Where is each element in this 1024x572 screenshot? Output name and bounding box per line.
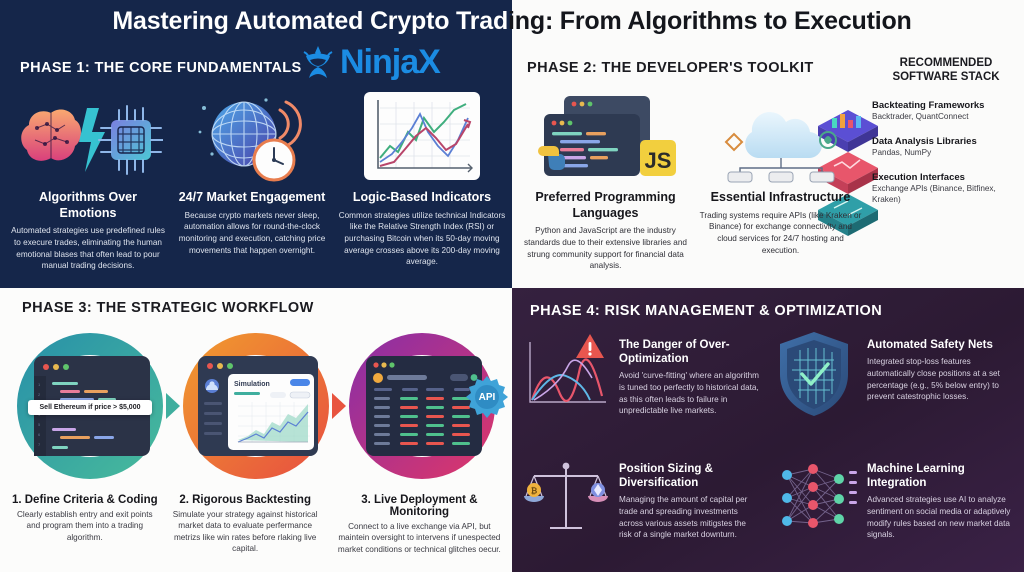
step-title: 2. Rigorous Backtesting: [169, 494, 322, 506]
risk-item-position-sizing: ₿ Position Sizing & Diversification Mana…: [520, 452, 760, 544]
card-body: Automated strategies use predefined rule…: [10, 225, 166, 272]
risk-item-machine-learning: Machine Learning Integration Advanced st…: [768, 452, 1016, 544]
card-market-engagement: 24/7 Market Engagement Because crypto ma…: [172, 88, 332, 272]
step-body: Connect to a live exchange via API, but …: [332, 521, 507, 555]
line-chart-icon: [338, 88, 506, 184]
risk-body: Managing the amount of capital per trade…: [619, 494, 760, 541]
stack-item-title: Data Analysis Libraries: [872, 136, 1022, 147]
balance-scale-icon: ₿: [520, 452, 612, 544]
card-title: 24/7 Market Engagement: [178, 190, 326, 206]
step-body: Simulate your strategy against historica…: [169, 509, 322, 555]
brain-chip-icon: [10, 88, 166, 184]
card-body: Trading systems require APIs (like Krake…: [699, 210, 862, 257]
simulation-label: Simulation: [234, 381, 270, 388]
risk-body: Avoid 'curve-fitting' where an algorithm…: [619, 370, 760, 417]
stack-item-title: Backteating Frameworks: [872, 100, 1022, 111]
card-title: Algorithms Over Emotions: [10, 190, 166, 221]
infographic-root: PHASE 1: THE CORE FUNDAMENTALS: [0, 0, 1024, 572]
flow-arrow-2-icon: [332, 393, 346, 419]
code-windows-icon: JS: [524, 88, 687, 184]
workflow-steps: 1. Define Criteria & Coding Clearly esta…: [6, 494, 512, 555]
workflow-diagram: 123 456 7: [14, 330, 506, 482]
card-body: Common strategies utilize technical Indi…: [338, 210, 506, 268]
workflow-step: 2. Rigorous Backtesting Simulate your st…: [164, 494, 327, 555]
stack-item-tools: Exchange APIs (Binance, Bitfinex, Kraken…: [872, 184, 1022, 205]
stack-item: Backteating Frameworks Backtrader, Quant…: [872, 100, 1022, 123]
stack-item-tools: Backtrader, QuantConnect: [872, 112, 1022, 123]
svg-text:₿: ₿: [531, 487, 538, 496]
risk-item-safety-nets: Automated Safety Nets Integrated stop-lo…: [768, 328, 1016, 446]
card-logic-indicators: Logic-Based Indicators Common strategies…: [332, 88, 512, 272]
ninjax-logo: NinjaX: [300, 44, 440, 80]
workflow-stage-backtesting: Simulation: [180, 330, 332, 482]
api-badge-label: API: [479, 392, 496, 403]
step-title: 3. Live Deployment & Monitoring: [332, 494, 507, 518]
risk-title: Machine Learning Integration: [867, 462, 1016, 490]
phase-2-panel: PHASE 2: THE DEVELOPER'S TOOLKIT RECOMME…: [512, 0, 1024, 288]
risk-body: Integrated stop-loss features automatica…: [867, 356, 1016, 403]
card-programming-languages: JS Preferred Programming Languages Pytho…: [518, 88, 693, 272]
stack-item-title: Execution Interfaces: [872, 172, 1022, 183]
card-algorithms-over-emotions: Algorithms Over Emotions Automated strat…: [4, 88, 172, 272]
phase-1-heading: PHASE 1: THE CORE FUNDAMENTALS: [20, 60, 302, 76]
software-stack-heading: RECOMMENDED SOFTWARE STACK: [872, 56, 1020, 85]
step-title: 1. Define Criteria & Coding: [11, 494, 159, 506]
code-tooltip: Sell Ethereum if price > $5,000: [28, 400, 152, 415]
card-title: Preferred Programming Languages: [524, 190, 687, 221]
globe-clock-icon: [178, 88, 326, 184]
phase-2-heading: PHASE 2: THE DEVELOPER'S TOOLKIT: [527, 60, 814, 76]
workflow-stage-coding: 123 456 7: [14, 330, 166, 482]
card-body: Because crypto markets never sleep, auto…: [178, 210, 326, 257]
workflow-stage-deployment: API: [346, 330, 498, 482]
flow-arrow-1-icon: [166, 393, 180, 419]
stack-item-tools: Pandas, NumPy: [872, 148, 1022, 159]
software-stack-list: Backteating Frameworks Backtrader, Quant…: [872, 100, 1022, 219]
card-body: Python and JavaScript are the industry s…: [524, 225, 687, 272]
card-essential-infrastructure: Essential Infrastructure Trading systems…: [693, 88, 868, 272]
overfitting-curve-warning-icon: [520, 328, 612, 420]
svg-text:JS: JS: [644, 148, 671, 173]
workflow-step: 1. Define Criteria & Coding Clearly esta…: [6, 494, 164, 555]
stack-item: Data Analysis Libraries Pandas, NumPy: [872, 136, 1022, 159]
risk-item-over-optimization: The Danger of Over-Optimization Avoid 'c…: [520, 328, 760, 446]
stack-item: Execution Interfaces Exchange APIs (Bina…: [872, 172, 1022, 206]
step-body: Clearly establish entry and exit points …: [11, 509, 159, 543]
workflow-step: 3. Live Deployment & Monitoring Connect …: [327, 494, 512, 555]
shield-net-icon: [768, 328, 860, 420]
cloud-network-icon: [699, 88, 862, 184]
risk-items-grid: The Danger of Over-Optimization Avoid 'c…: [520, 328, 1024, 544]
card-title: Essential Infrastructure: [699, 190, 862, 206]
phase-4-panel: PHASE 4: RISK MANAGEMENT & OPTIMIZATION: [512, 288, 1024, 572]
phase-1-cards: Algorithms Over Emotions Automated strat…: [4, 88, 512, 272]
phase-4-heading: PHASE 4: RISK MANAGEMENT & OPTIMIZATION: [530, 303, 882, 319]
card-title: Logic-Based Indicators: [338, 190, 506, 206]
api-badge: API: [466, 376, 508, 418]
risk-title: Automated Safety Nets: [867, 338, 1016, 352]
phase-3-panel: PHASE 3: THE STRATEGIC WORKFLOW: [0, 288, 512, 572]
risk-title: The Danger of Over-Optimization: [619, 338, 760, 366]
risk-body: Advanced strategies use AI to analyze se…: [867, 494, 1016, 541]
ninja-mask-icon: [300, 44, 336, 80]
phase-3-heading: PHASE 3: THE STRATEGIC WORKFLOW: [22, 300, 314, 316]
risk-title: Position Sizing & Diversification: [619, 462, 760, 490]
neural-network-icon: [768, 452, 860, 544]
ninjax-wordmark: NinjaX: [340, 45, 440, 79]
phase-2-cards: JS Preferred Programming Languages Pytho…: [518, 88, 868, 272]
